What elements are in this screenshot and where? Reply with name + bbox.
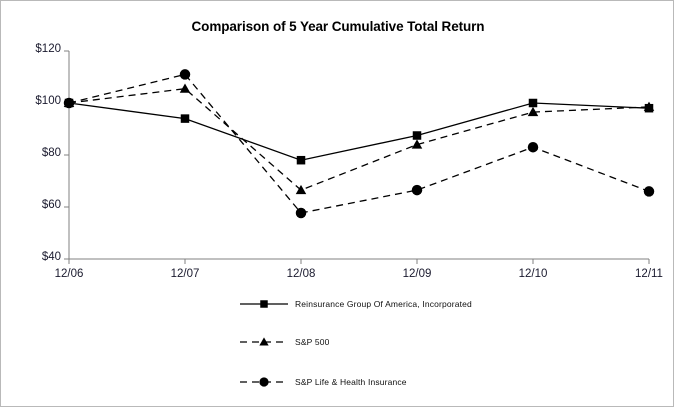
data-point-marker xyxy=(644,186,655,197)
y-axis-tick-label: $40 xyxy=(9,251,61,263)
y-axis-tick-label: $100 xyxy=(9,95,61,107)
x-axis-tick-label: 12/11 xyxy=(609,268,674,280)
data-point-marker xyxy=(528,142,539,153)
legend-swatch-square xyxy=(238,297,290,311)
legend-item-3[interactable]: S&P Life & Health Insurance xyxy=(238,374,407,390)
legend-item-label: S&P 500 xyxy=(295,337,329,347)
x-axis-tick-label: 12/06 xyxy=(29,268,109,280)
data-point-marker xyxy=(259,377,268,386)
data-point-marker xyxy=(260,300,267,307)
chart-series-3 xyxy=(64,69,655,218)
x-axis-tick-label: 12/09 xyxy=(377,268,457,280)
series-line xyxy=(69,103,649,160)
data-point-marker xyxy=(180,69,191,80)
chart-page: Comparison of 5 Year Cumulative Total Re… xyxy=(0,0,674,407)
y-axis-tick-label: $80 xyxy=(9,147,61,159)
data-point-marker xyxy=(297,156,306,165)
data-point-marker xyxy=(64,98,75,109)
legend-item-label: Reinsurance Group Of America, Incorporat… xyxy=(295,299,472,309)
chart-plot-area xyxy=(1,1,674,407)
data-point-marker xyxy=(529,99,538,108)
data-point-marker xyxy=(413,131,422,140)
legend-item-2[interactable]: S&P 500 xyxy=(238,334,329,350)
y-axis-tick-label: $120 xyxy=(9,43,61,55)
legend-swatch-triangle xyxy=(238,335,290,349)
x-axis-tick-label: 12/10 xyxy=(493,268,573,280)
x-axis-tick-label: 12/07 xyxy=(145,268,225,280)
legend-swatch-circle xyxy=(238,375,290,389)
x-axis-tick-label: 12/08 xyxy=(261,268,341,280)
data-point-marker xyxy=(296,208,307,219)
chart-series-1 xyxy=(65,99,654,165)
series-line xyxy=(69,74,649,213)
legend-item-1[interactable]: Reinsurance Group Of America, Incorporat… xyxy=(238,296,472,312)
y-axis-tick-label: $60 xyxy=(9,199,61,211)
legend-item-label: S&P Life & Health Insurance xyxy=(295,377,407,387)
chart-series-2 xyxy=(64,83,655,194)
data-point-marker xyxy=(181,114,190,123)
data-point-marker xyxy=(412,185,423,196)
data-point-marker xyxy=(180,83,191,92)
